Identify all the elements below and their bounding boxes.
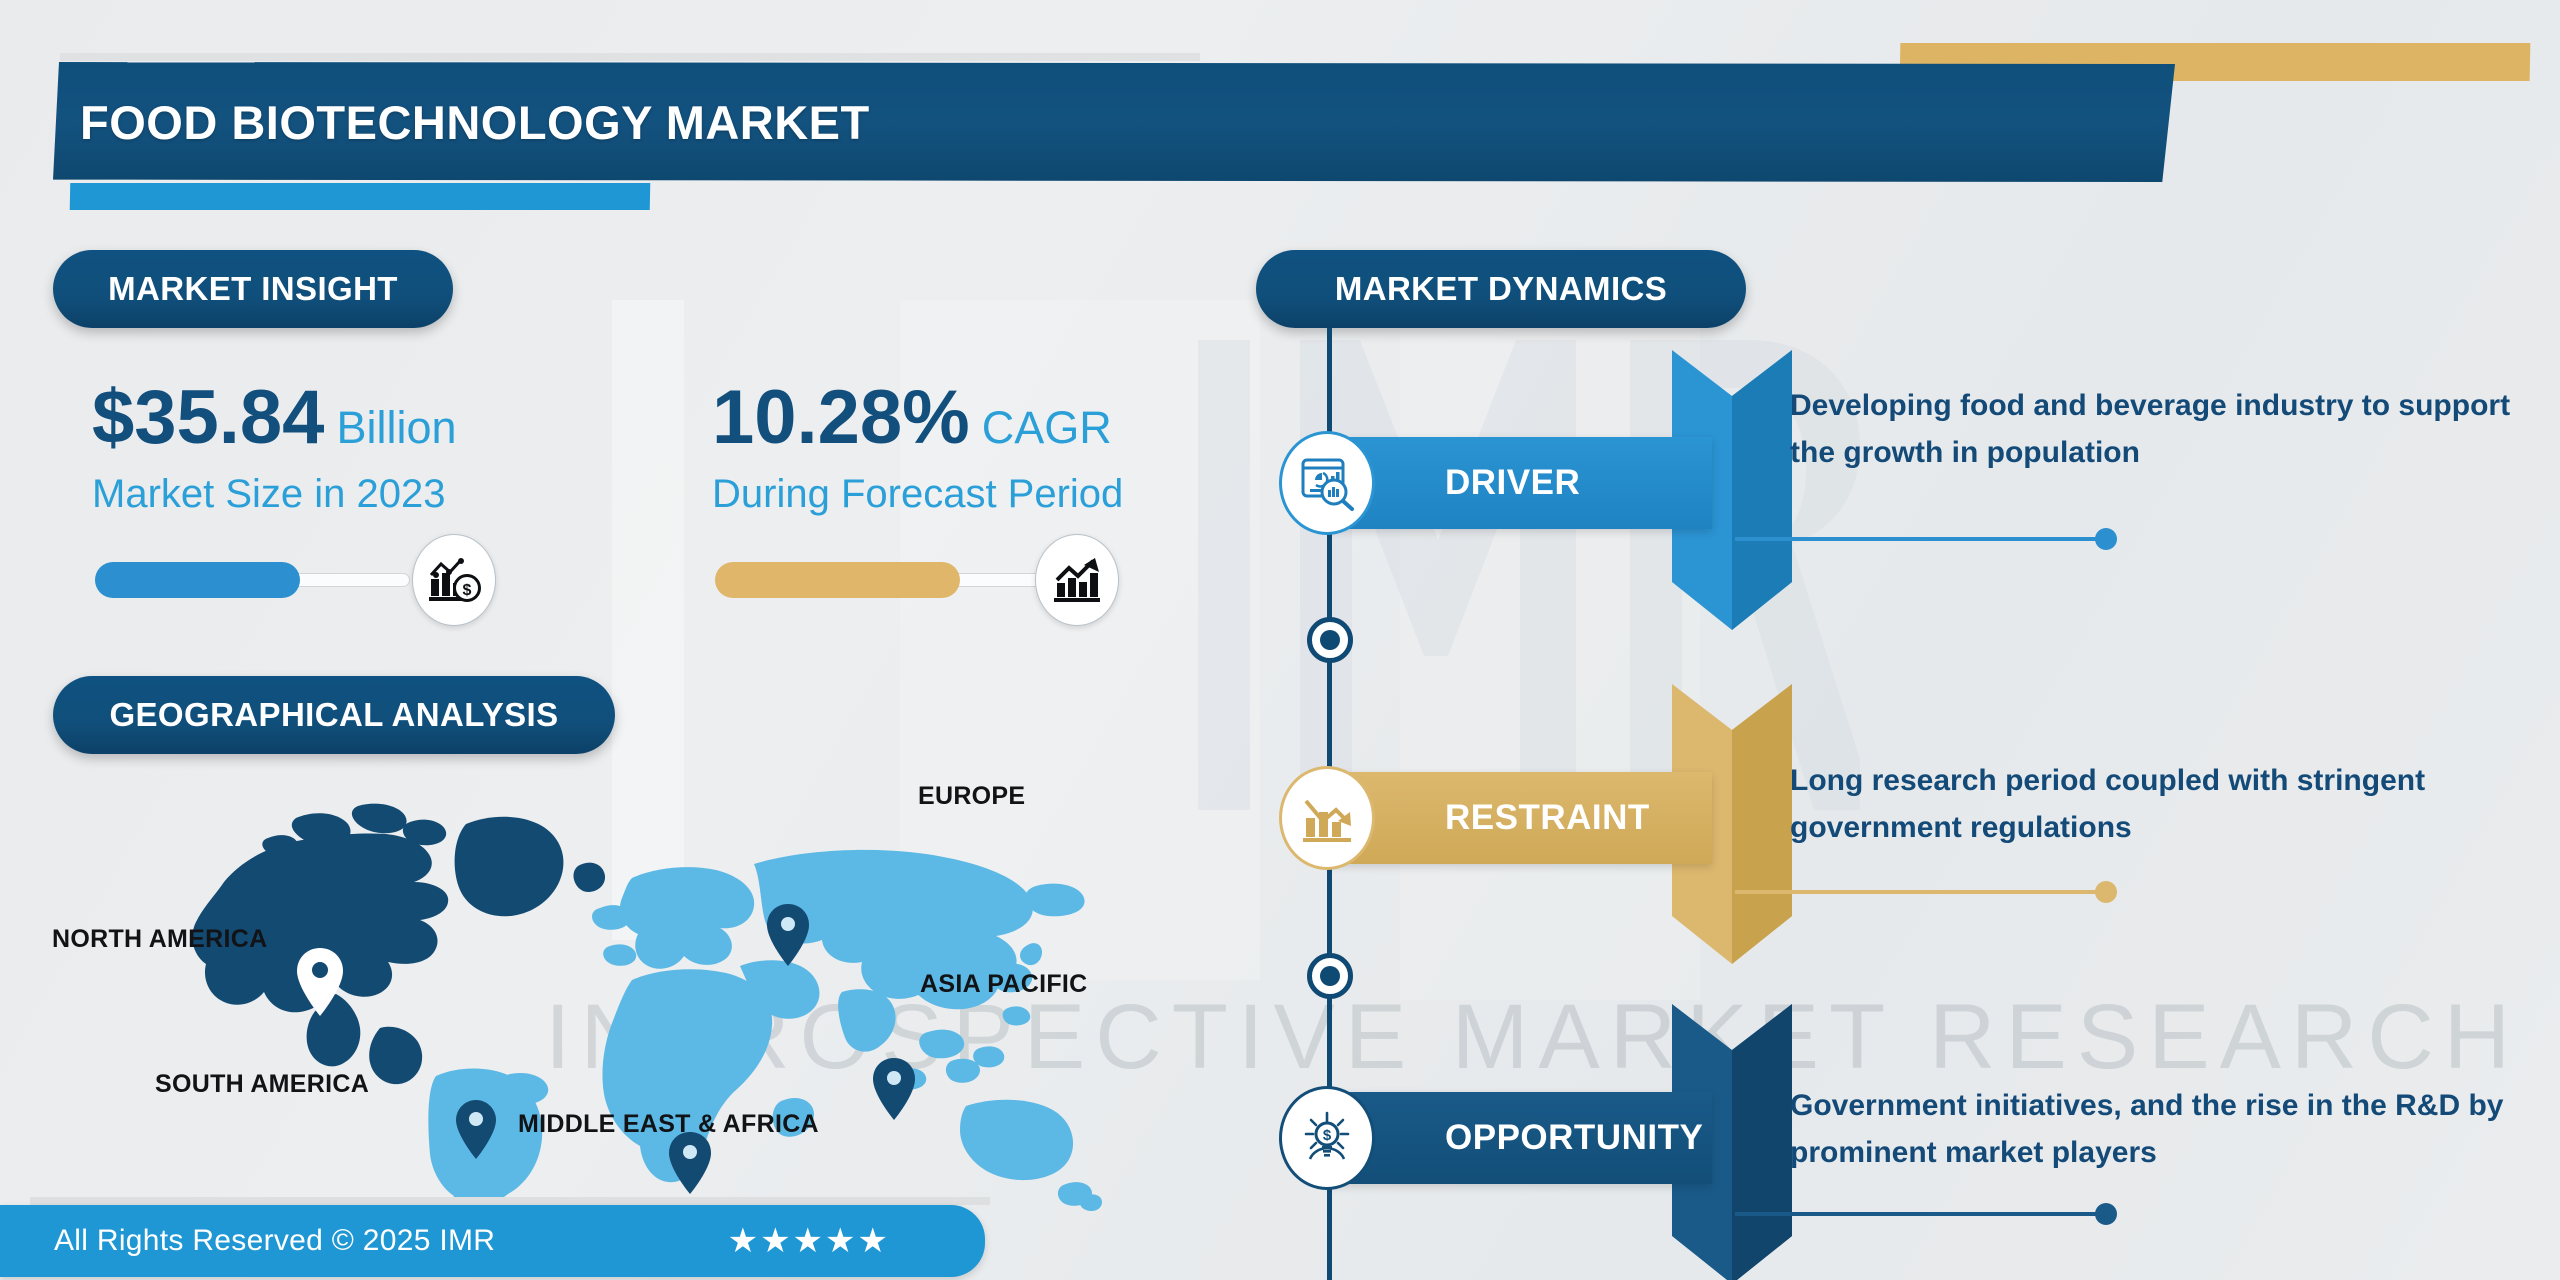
opportunity-description: Government initiatives, and the rise in … [1790,1083,2520,1176]
lightbulb-dollar-icon: $ [1279,1086,1375,1190]
bar-chart-dollar-icon: $ [412,534,496,626]
rating-stars: ★★★★★ [728,1221,890,1261]
market-dynamics-label: MARKET DYNAMICS [1335,270,1667,308]
driver-bar: DRIVER [1327,437,1712,529]
stat-cagr: 10.28%CAGR During Forecast Period [712,380,1123,517]
geographical-analysis-pill: GEOGRAPHICAL ANALYSIS [53,676,615,754]
cagr-caption: During Forecast Period [712,472,1123,517]
market-size-unit: Billion [336,402,456,454]
report-magnifier-icon [1279,431,1375,535]
restraint-label: RESTRAINT [1445,798,1650,838]
opportunity-connector-dot [2095,1203,2117,1225]
timeline-node-2 [1307,953,1353,999]
map-pin-middle-east-africa [669,1132,711,1194]
opportunity-label: OPPORTUNITY [1445,1118,1703,1158]
market-insight-label: MARKET INSIGHT [108,270,398,308]
driver-label: DRIVER [1445,463,1580,503]
map-region-eurasia-africa-oceania [592,850,1102,1211]
map-label-middle-east-africa: MIDDLE EAST & AFRICA [518,1110,819,1139]
market-size-progress-fill [95,562,300,598]
copyright-text: All Rights Reserved © 2025 IMR [54,1224,495,1258]
infographic-canvas: INTROSPECTIVE MARKET RESEARCH FOOD BIOTE… [0,0,2560,1280]
map-label-north-america: NORTH AMERICA [52,925,267,954]
map-label-south-america: SOUTH AMERICA [155,1070,369,1099]
map-pin-asia-pacific [873,1058,915,1120]
growth-arrow-chart-icon [1035,534,1119,626]
restraint-connector-dot [2095,881,2117,903]
timeline-node-1 [1307,617,1353,663]
map-label-europe: EUROPE [918,782,1025,811]
header-top-shadow [60,53,1200,61]
stat-market-size: $35.84Billion Market Size in 2023 [92,380,457,517]
cagr-value: 10.28% [712,380,970,456]
svg-text:$: $ [1323,1127,1332,1144]
bg-panel-3 [1400,300,1700,1000]
restraint-connector-line [1735,890,2110,894]
page-title: FOOD BIOTECHNOLOGY MARKET [80,95,870,150]
market-size-caption: Market Size in 2023 [92,472,457,517]
driver-connector-dot [2095,528,2117,550]
header-bar: FOOD BIOTECHNOLOGY MARKET [53,62,2175,182]
opportunity-bar: OPPORTUNITY [1327,1092,1712,1184]
geographical-analysis-label: GEOGRAPHICAL ANALYSIS [109,696,558,734]
market-dynamics-pill: MARKET DYNAMICS [1256,250,1746,328]
svg-text:$: $ [463,582,472,599]
world-map [180,770,1110,1240]
driver-connector-line [1735,537,2110,541]
cagr-unit: CAGR [982,402,1112,454]
footer-bar: All Rights Reserved © 2025 IMR ★★★★★ [0,1205,985,1277]
cagr-progress-fill [715,562,960,598]
market-size-value: $35.84 [92,380,324,456]
declining-bar-chart-icon [1279,766,1375,870]
market-insight-pill: MARKET INSIGHT [53,250,453,328]
restraint-description: Long research period coupled with string… [1790,758,2520,851]
map-label-asia-pacific: ASIA PACIFIC [920,970,1088,999]
opportunity-connector-line [1735,1212,2110,1216]
restraint-bar: RESTRAINT [1327,772,1712,864]
footer-shadow [30,1197,990,1205]
header-blue-accent [70,183,651,210]
map-pin-europe [767,904,809,966]
driver-description: Developing food and beverage industry to… [1790,383,2520,476]
